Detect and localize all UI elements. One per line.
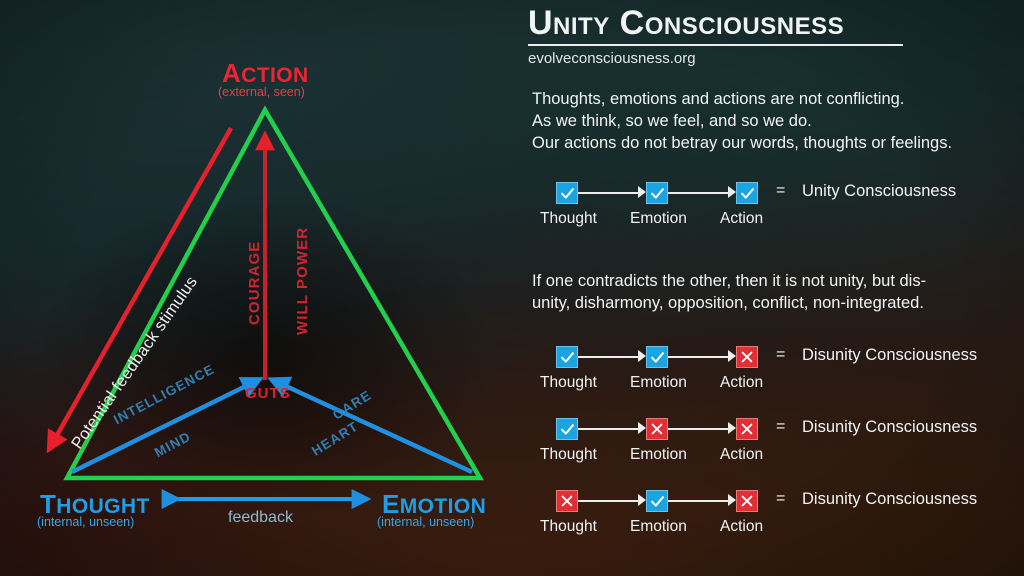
unity-line-2: As we think, so we feel, and so we do.: [532, 110, 952, 132]
chain-arrowhead-icon: [638, 494, 646, 506]
chain-connector: [578, 356, 639, 358]
vertex-label-emotion: EMOTION: [382, 491, 486, 517]
feedback-label: feedback: [228, 509, 293, 527]
emotion-to-guts-arrow: [277, 382, 472, 472]
chain-arrowhead-icon: [728, 350, 736, 362]
checkbox-crossed-icon[interactable]: [736, 418, 758, 440]
unity-line-1: Thoughts, emotions and actions are not c…: [532, 88, 952, 110]
equals-sign: =: [776, 346, 785, 364]
chain-row: ThoughtEmotionAction=Disunity Consciousn…: [506, 490, 1024, 554]
label-will-power: WILL POWER: [294, 227, 311, 335]
chain-node-label: Action: [720, 446, 763, 464]
chain-result-label: Disunity Consciousness: [802, 490, 977, 509]
chain-arrowhead-icon: [638, 186, 646, 198]
vertex-sublabel-emotion: (internal, unseen): [377, 516, 474, 529]
unity-line-3: Our actions do not betray our words, tho…: [532, 132, 952, 154]
vertex-sublabel-action: (external, seen): [218, 86, 305, 99]
chain-node-label: Emotion: [630, 518, 687, 536]
chain-node-label: Emotion: [630, 210, 687, 228]
green-triangle: [67, 110, 480, 478]
chain-result-label: Unity Consciousness: [802, 182, 956, 201]
checkbox-crossed-icon[interactable]: [556, 490, 578, 512]
infographic-canvas: ACTION (external, seen) THOUGHT (interna…: [0, 0, 1024, 576]
checkbox-checked-icon[interactable]: [646, 346, 668, 368]
vertex-label-thought: THOUGHT: [40, 491, 150, 517]
chain-arrowhead-icon: [728, 494, 736, 506]
chain-node-label: Thought: [540, 518, 597, 536]
chain-arrowhead-icon: [728, 186, 736, 198]
chain-connector: [668, 192, 729, 194]
chain-node-label: Emotion: [630, 374, 687, 392]
checkbox-crossed-icon[interactable]: [736, 346, 758, 368]
chain-node-label: Thought: [540, 374, 597, 392]
title-underline: [528, 44, 903, 46]
checkbox-checked-icon[interactable]: [646, 182, 668, 204]
chain-connector: [668, 500, 729, 502]
checkbox-checked-icon[interactable]: [646, 490, 668, 512]
disunity-line-1: If one contradicts the other, then it is…: [532, 270, 926, 292]
chain-row: ThoughtEmotionAction=Disunity Consciousn…: [506, 346, 1024, 410]
vertex-sublabel-thought: (internal, unseen): [37, 516, 134, 529]
chain-node-label: Action: [720, 210, 763, 228]
checkbox-checked-icon[interactable]: [556, 418, 578, 440]
chain-result-label: Disunity Consciousness: [802, 346, 977, 365]
chain-connector: [578, 428, 639, 430]
action-initial: A: [222, 58, 241, 88]
checkbox-crossed-icon[interactable]: [736, 490, 758, 512]
disunity-description: If one contradicts the other, then it is…: [532, 270, 926, 314]
disunity-line-2: unity, disharmony, opposition, conflict,…: [532, 292, 926, 314]
chain-arrowhead-icon: [728, 422, 736, 434]
chain-arrowhead-icon: [638, 422, 646, 434]
equals-sign: =: [776, 490, 785, 508]
chain-node-label: Thought: [540, 210, 597, 228]
chain-result-label: Disunity Consciousness: [802, 418, 977, 437]
vertex-label-action: ACTION: [222, 60, 309, 86]
chain-connector: [578, 500, 639, 502]
label-courage: COURAGE: [246, 241, 263, 325]
chain-row: ThoughtEmotionAction=Unity Consciousness: [506, 182, 1024, 246]
checkbox-checked-icon[interactable]: [556, 182, 578, 204]
equals-sign: =: [776, 418, 785, 436]
site-url: evolveconsciousness.org: [528, 50, 696, 67]
page-title: Unity Consciousness: [528, 4, 844, 43]
chain-arrowhead-icon: [638, 350, 646, 362]
chain-node-label: Thought: [540, 446, 597, 464]
chain-node-label: Emotion: [630, 446, 687, 464]
chain-connector: [578, 192, 639, 194]
chain-node-label: Action: [720, 518, 763, 536]
label-guts: GUTS: [245, 385, 291, 402]
action-rest: CTION: [241, 64, 308, 87]
unity-description: Thoughts, emotions and actions are not c…: [532, 88, 952, 154]
checkbox-checked-icon[interactable]: [556, 346, 578, 368]
equals-sign: =: [776, 182, 785, 200]
chain-connector: [668, 356, 729, 358]
checkbox-crossed-icon[interactable]: [646, 418, 668, 440]
checkbox-checked-icon[interactable]: [736, 182, 758, 204]
chain-row: ThoughtEmotionAction=Disunity Consciousn…: [506, 418, 1024, 482]
chain-node-label: Action: [720, 374, 763, 392]
chain-connector: [668, 428, 729, 430]
right-panel: Unity Consciousness evolveconsciousness.…: [506, 0, 1024, 576]
